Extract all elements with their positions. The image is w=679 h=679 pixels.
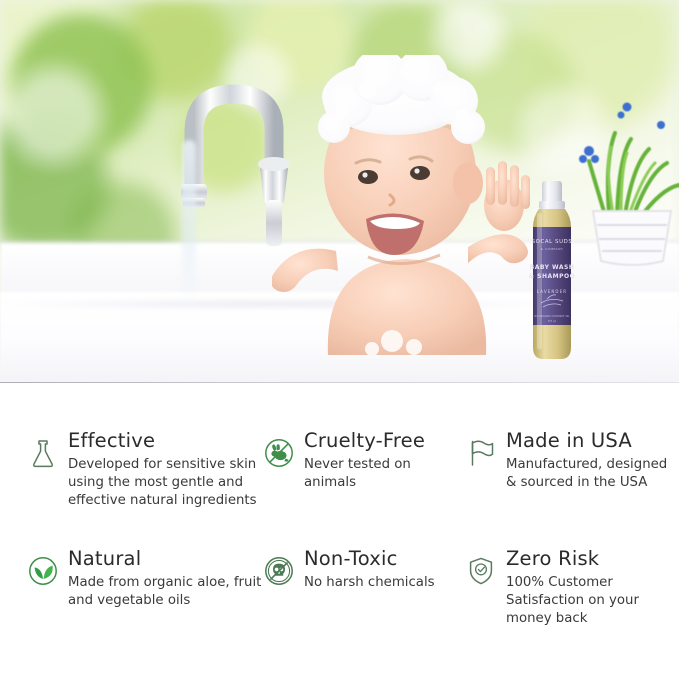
svg-text:8 fl oz: 8 fl oz xyxy=(548,319,557,323)
no-rabbit-icon xyxy=(262,436,296,470)
feature-made-in-usa: Made in USA Manufactured, designed & sou… xyxy=(464,430,679,492)
svg-text:BABY WASH: BABY WASH xyxy=(530,264,575,271)
feature-natural: Natural Made from organic aloe, fruit an… xyxy=(26,548,266,610)
baby-in-bath xyxy=(272,55,540,355)
potted-plant xyxy=(575,95,679,270)
section-divider xyxy=(0,382,679,383)
feature-description: Never tested on animals xyxy=(304,456,462,491)
hero-photo: SOCAL SUDS & COMPANY BABY WASH & SHAMPOO… xyxy=(0,0,679,383)
feature-title: Effective xyxy=(68,430,266,451)
feature-title: Made in USA xyxy=(506,430,679,451)
product-bottle: SOCAL SUDS & COMPANY BABY WASH & SHAMPOO… xyxy=(523,181,581,361)
feature-non-toxic: Non-Toxic No harsh chemicals xyxy=(262,548,462,592)
no-skull-icon xyxy=(262,554,296,588)
feature-title: Non-Toxic xyxy=(304,548,462,569)
feature-text: Natural Made from organic aloe, fruit an… xyxy=(68,548,266,610)
flask-icon xyxy=(26,436,60,470)
feature-title: Zero Risk xyxy=(506,548,679,569)
shield-check-icon xyxy=(464,554,498,588)
feature-text: Zero Risk 100% Customer Satisfaction on … xyxy=(506,548,679,627)
feature-text: Cruelty-Free Never tested on animals xyxy=(304,430,462,492)
feature-description: Manufactured, designed & sourced in the … xyxy=(506,456,679,491)
feature-description: 100% Customer Satisfaction on your money… xyxy=(506,574,679,627)
feature-title: Cruelty-Free xyxy=(304,430,462,451)
feature-text: Effective Developed for sensitive skin u… xyxy=(68,430,266,509)
feature-description: Developed for sensitive skin using the m… xyxy=(68,456,266,509)
feature-description: No harsh chemicals xyxy=(304,574,462,592)
feature-text: Made in USA Manufactured, designed & sou… xyxy=(506,430,679,492)
feature-cruelty-free: Cruelty-Free Never tested on animals xyxy=(262,430,462,492)
features-section: Effective Developed for sensitive skin u… xyxy=(0,400,679,679)
flag-icon xyxy=(464,436,498,470)
feature-effective: Effective Developed for sensitive skin u… xyxy=(26,430,266,509)
water-stream xyxy=(182,140,196,305)
feature-title: Natural xyxy=(68,548,266,569)
product-feature-infographic: SOCAL SUDS & COMPANY BABY WASH & SHAMPOO… xyxy=(0,0,679,679)
feature-text: Non-Toxic No harsh chemicals xyxy=(304,548,462,592)
svg-text:& SHAMPOO: & SHAMPOO xyxy=(529,273,575,280)
leaf-icon xyxy=(26,554,60,588)
svg-text:& COMPANY: & COMPANY xyxy=(541,247,564,251)
feature-zero-risk: Zero Risk 100% Customer Satisfaction on … xyxy=(464,548,679,627)
feature-description: Made from organic aloe, fruit and vegeta… xyxy=(68,574,266,609)
